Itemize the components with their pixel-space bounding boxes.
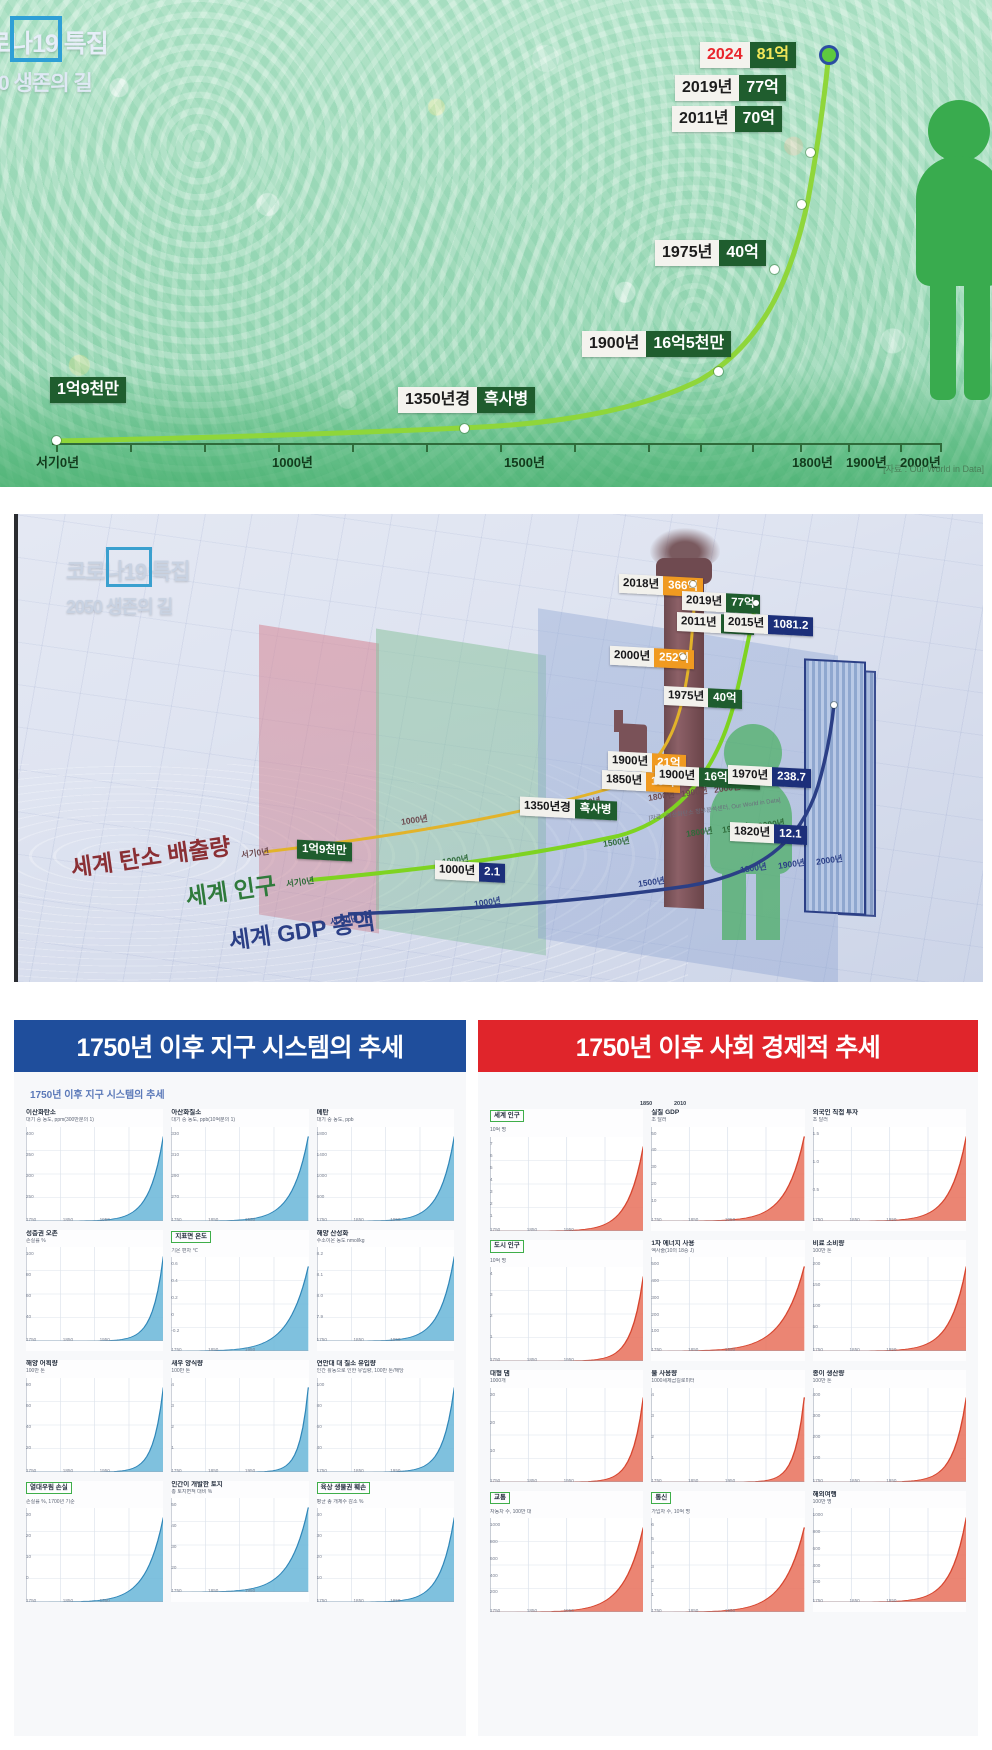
panel4-header-year: 1850 [640,1101,652,1107]
mini-chart-subtitle: 100만 톤 [26,1368,163,1375]
mini-chart-title: 해양 어획량 [26,1360,163,1368]
label-1975: 1975년 40억 [655,240,766,266]
mini-chart-plot: 20015010050175018501950 [813,1257,966,1351]
panel4-title: 1750년 이후 사회 경제적 추세 [478,1020,978,1072]
mini-x-tick: 1950 [564,1608,574,1613]
mini-chart[interactable]: 새우 양식량100만 톤4321175018501950 [171,1360,308,1472]
data-point-1975 [770,265,779,274]
mini-x-tick: 1950 [245,1468,255,1473]
mini-chart-subtitle: 수소이온 농도 nmol/kg [317,1238,454,1245]
mini-y-tick: 1400 [317,1152,327,1157]
mini-x-tick: 1850 [63,1217,73,1222]
mini-y-tick: 400 [813,1392,821,1397]
mini-chart[interactable]: 종이 생산량100만 톤400300200100175018501950 [813,1370,966,1482]
mini-x-tick: 1850 [353,1468,363,1473]
mini-chart[interactable]: 도시 인구10억 명4321175018501950 [490,1240,643,1362]
mini-chart-plot: 80604020175018501950 [26,1378,163,1472]
mini-x-tick: 1950 [390,1337,400,1342]
mini-x-tick: 1850 [527,1357,537,1362]
mini-x-tick: 1950 [245,1347,255,1352]
mini-chart-plot: 1000800600400200175018501950 [490,1518,643,1612]
mini-y-tick: 200 [813,1261,821,1266]
pop-label-2019: 2019년 77억 [682,591,760,614]
mini-y-tick: 1.5 [813,1131,819,1136]
mini-y-tick: -0.2 [171,1328,179,1333]
mini-chart-subtitle: 엑사줄(10의 18승 J) [651,1248,804,1255]
mini-y-tick: 600 [317,1194,325,1199]
mini-chart-subtitle: 손실률 % [26,1238,163,1245]
mini-y-tick: 3 [490,1292,493,1297]
mini-y-tick: 0.5 [813,1187,819,1192]
mini-chart-subtitle: 자동차 수, 100만 대 [490,1509,643,1516]
mini-chart-subtitle: 10억 명 [490,1258,643,1265]
mini-y-tick: 270 [171,1194,179,1199]
mini-chart-title: 육상 생물권 훼손 [317,1482,370,1494]
mini-chart-subtitle: 대기 중 농도, ppm(300만분의 1) [26,1117,163,1124]
mini-y-tick: 8.1 [317,1272,323,1277]
mini-y-tick: 40 [26,1424,31,1429]
mini-chart-plot: 1000800600400200175018501950 [813,1508,966,1602]
mini-y-tick: 330 [171,1131,179,1136]
mini-x-tick: 1950 [886,1598,896,1603]
mini-x-tick: 1750 [317,1598,327,1603]
mini-x-tick: 1750 [651,1217,661,1222]
mini-x-tick: 1950 [564,1478,574,1483]
mini-y-tick: 1 [651,1455,654,1460]
mini-y-tick: 400 [490,1573,498,1578]
mini-x-tick: 1950 [100,1217,110,1222]
mini-x-tick: 1850 [208,1468,218,1473]
mini-y-tick: 7 [490,1141,493,1146]
mini-x-tick: 1850 [208,1347,218,1352]
mini-x-tick: 1750 [317,1468,327,1473]
mini-x-tick: 1750 [171,1468,181,1473]
mini-x-tick: 1850 [63,1337,73,1342]
mini-x-tick: 1850 [353,1217,363,1222]
mini-x-tick: 1750 [651,1478,661,1483]
mini-chart-title: 비료 소비량 [813,1240,966,1248]
mini-x-tick: 1950 [100,1468,110,1473]
mini-x-tick: 1750 [651,1608,661,1613]
mini-chart-plot: 40302010175018501950 [317,1508,454,1602]
mini-x-tick: 1750 [490,1478,500,1483]
mini-chart-title: 대형 댐 [490,1370,643,1378]
mini-chart-title: 지표면 온도 [171,1231,211,1243]
mini-chart-title: 물 사용량 [651,1370,804,1378]
label-1350-black-death: 1350년경 흑사병 [398,387,535,413]
mini-y-tick: 3 [171,1403,174,1408]
mini-y-tick: 40 [317,1445,322,1450]
mini-y-tick: 10 [26,1554,31,1559]
xtick-1800: 1800년 [792,452,833,471]
mini-chart[interactable]: 인간이 개발한 토지총 토지면적 대비 %5040302017501850195… [171,1481,308,1603]
mini-chart[interactable]: 대형 댐1000개302010175018501950 [490,1370,643,1482]
mini-y-tick: 4 [651,1550,654,1555]
mini-chart-plot: 4321175018501950 [171,1378,308,1472]
mini-x-tick: 1950 [564,1357,574,1362]
mini-y-tick: 40 [651,1147,656,1152]
mini-y-tick: 20 [26,1533,31,1538]
mini-x-tick: 1950 [725,1347,735,1352]
mini-chart-plot: 400350300250175018501950 [26,1127,163,1221]
mini-y-tick: 20 [317,1554,322,1559]
mini-chart[interactable]: 교통자동차 수, 100만 대1000800600400200175018501… [490,1491,643,1613]
mini-y-tick: 300 [813,1413,821,1418]
mini-x-tick: 1750 [813,1478,823,1483]
mini-chart[interactable]: 육상 생물권 훼손평균 종 개체수 감소 %403020101750185019… [317,1481,454,1603]
mini-y-tick: 3 [651,1413,654,1418]
mini-chart[interactable]: 1차 에너지 사용엑사줄(10의 18승 J)50040030020010017… [651,1240,804,1362]
mini-chart[interactable]: 물 사용량1000세제곱킬로미터4321175018501950 [651,1370,804,1482]
three-series-composite-panel: 코로나19 특집 2050 생존의 길 2018년 366억 2000년 252… [14,514,983,982]
label-1900: 1900년 16억5천만 [582,331,731,357]
mini-chart-subtitle: 조 달러 [813,1117,966,1124]
mini-y-tick: 0.6 [171,1261,177,1266]
panel3-title: 1750년 이후 지구 시스템의 추세 [14,1020,466,1072]
population-curve-svg [0,0,992,487]
mini-y-tick: 200 [813,1579,821,1584]
mini-y-tick: 10 [651,1198,656,1203]
mini-y-tick: 1000 [490,1522,500,1527]
mini-x-tick: 1950 [100,1598,110,1603]
mini-y-tick: 100 [26,1251,34,1256]
mini-y-tick: 4 [171,1382,174,1387]
label-2024: 2024 81억 [700,42,796,68]
mini-y-tick: 800 [813,1529,821,1534]
mini-x-tick: 1850 [527,1608,537,1613]
mini-y-tick: 60 [317,1424,322,1429]
data-point-2011 [797,200,806,209]
mini-y-tick: 7.9 [317,1314,323,1319]
mini-chart-title: 인간이 개발한 토지 [171,1481,308,1489]
mini-y-tick: 6 [490,1153,493,1158]
mini-x-tick: 1850 [688,1217,698,1222]
mini-chart[interactable]: 해양 어획량100만 톤80604020175018501950 [26,1360,163,1472]
mini-y-tick: 200 [813,1434,821,1439]
mini-y-tick: 0.4 [171,1278,177,1283]
mini-y-tick: 2 [490,1201,493,1206]
xtick-1900: 1900년 [846,452,887,471]
mini-y-tick: 500 [651,1261,659,1266]
mini-chart-plot: 302010175018501950 [490,1388,643,1482]
panel3-sheet-heading: 1750년 이후 지구 시스템의 추세 [30,1086,454,1101]
mini-chart-plot: 100806040175018501950 [317,1378,454,1472]
mini-x-tick: 1750 [490,1227,500,1232]
mini-x-tick: 1750 [26,1217,36,1222]
mini-x-tick: 1850 [527,1478,537,1483]
mini-chart-title: 성층권 오존 [26,1230,163,1238]
mini-chart-subtitle: 손실률 %, 1700년 기준 [26,1499,163,1506]
mini-y-tick: 290 [171,1173,179,1178]
mini-y-tick: 5 [651,1536,654,1541]
mini-y-tick: 8.0 [317,1293,323,1298]
mini-chart-plot: 4321175018501950 [651,1388,804,1482]
mini-y-tick: 600 [490,1556,498,1561]
mini-chart-subtitle: 인간 활동으로 인한 유입량, 100만 톤/해당 [317,1368,454,1375]
broadcast-watermark: 코로나19 특집 2050 생존의 길 [0,24,108,97]
carbon-point-2000 [680,654,686,660]
mini-chart-title: 1차 에너지 사용 [651,1240,804,1248]
mini-chart-title: 외국인 직접 투자 [813,1109,966,1117]
mini-chart-title: 해외여행 [813,1491,966,1499]
mini-chart[interactable]: 외국인 직접 투자조 달러1.51.00.5175018501950 [813,1109,966,1231]
mini-y-tick: 150 [813,1282,821,1287]
mini-chart-title: 새우 양식량 [171,1360,308,1368]
mini-y-tick: 2 [651,1434,654,1439]
mini-x-tick: 1850 [63,1598,73,1603]
mini-x-tick: 1750 [26,1337,36,1342]
mini-y-tick: 20 [651,1181,656,1186]
mini-y-tick: 200 [651,1312,659,1317]
mini-chart[interactable]: 연안대 대 질소 유입량인간 활동으로 인한 유입량, 100만 톤/해당100… [317,1360,454,1472]
data-point-year0 [52,436,61,445]
mini-y-tick: 300 [651,1295,659,1300]
mini-y-tick: 400 [26,1131,34,1136]
mini-y-tick: 1800 [317,1131,327,1136]
mini-chart-plot: 100806040175018501950 [26,1247,163,1341]
mini-x-tick: 1950 [725,1217,735,1222]
mini-x-tick: 1950 [725,1608,735,1613]
panel4-sheet: 1750년 이후 사회 경제적 추세 세계 인구10억 명76543211750… [478,1072,978,1736]
mini-y-tick: 60 [26,1403,31,1408]
mini-chart-title: 도시 인구 [490,1240,524,1252]
mini-x-tick: 1750 [813,1598,823,1603]
mini-chart-subtitle: 가입자 수, 10억 명 [651,1509,804,1516]
mini-y-tick: 50 [651,1131,656,1136]
mini-x-tick: 1950 [564,1227,574,1232]
mini-chart-subtitle: 1000개 [490,1378,643,1385]
mini-chart-subtitle: 총 토지면적 대비 % [171,1489,308,1496]
mini-x-tick: 1850 [849,1347,859,1352]
mini-x-tick: 1850 [688,1347,698,1352]
mini-y-tick: 5 [490,1165,493,1170]
mini-y-tick: 2 [171,1424,174,1429]
panel4-header-year: 2010 [674,1101,686,1107]
mini-chart[interactable]: 아산화질소대기 중 농도, ppb(10억분의 1)33031029027017… [171,1109,308,1221]
panel1-x-axis [52,443,942,445]
mini-x-tick: 1950 [886,1217,896,1222]
mini-chart[interactable]: 지표면 온도기온 편차 ℃0.60.40.20-0.2175018501950 [171,1230,308,1352]
mini-chart-subtitle: 10억 명 [490,1127,643,1134]
mini-y-tick: 4 [490,1177,493,1182]
mini-chart-title: 교통 [490,1492,510,1504]
mini-chart[interactable]: 해외여행100만 명1000800600400200175018501950 [813,1491,966,1613]
mini-y-tick: 1000 [813,1512,823,1517]
watermark2-line2: 2050 생존의 길 [66,593,190,619]
mini-y-tick: 2 [490,1313,493,1318]
mini-y-tick: 100 [317,1382,325,1387]
mini-y-tick: 400 [651,1278,659,1283]
panel4-mini-chart-grid: 세계 인구10억 명7654321175018501950실질 GDP조 달러5… [490,1109,966,1612]
watermark-accent-box [10,16,62,62]
xtick-0: 서기0년 [36,452,79,471]
mini-y-tick: 100 [651,1328,659,1333]
data-point-2019 [806,148,815,157]
mini-chart-plot: 654321175018501950 [651,1518,804,1612]
mini-y-tick: 0 [171,1312,174,1317]
mini-chart-title: 열대우림 손실 [26,1482,72,1494]
mini-y-tick: 0.2 [171,1295,177,1300]
mini-y-tick: 50 [813,1324,818,1329]
mini-x-tick: 1750 [171,1588,181,1593]
mini-x-tick: 1750 [317,1217,327,1222]
mini-x-tick: 1750 [171,1217,181,1222]
mini-y-tick: 8.2 [317,1251,323,1256]
mini-y-tick: 40 [26,1314,31,1319]
mini-chart-subtitle: 100만 톤 [813,1378,966,1385]
panel3-sheet: 1750년 이후 지구 시스템의 추세 이산화탄소대기 중 농도, ppm(30… [14,1072,466,1736]
pop-label-year0: 1억9천만 [297,840,352,862]
mini-x-tick: 1850 [63,1468,73,1473]
mini-x-tick: 1850 [353,1337,363,1342]
population-curve-panel: 코로나19 특집 2050 생존의 길 2024 81억 2019년 77억 2… [0,0,992,487]
mini-chart-title: 이산화탄소 [26,1109,163,1117]
mini-chart-plot: 4321175018501950 [490,1267,643,1361]
mini-x-tick: 1750 [490,1357,500,1362]
label-2019: 2019년 77억 [675,75,786,101]
mini-y-tick: 1 [490,1334,493,1339]
mini-chart-plot: 500400300200100175018501950 [651,1257,804,1351]
mini-chart[interactable]: 비료 소비량100만 톤20015010050175018501950 [813,1240,966,1362]
watermark-line2: 2050 생존의 길 [0,67,108,97]
mini-y-tick: 250 [26,1194,34,1199]
mini-x-tick: 1950 [100,1337,110,1342]
mini-chart-plot: 330310290270175018501950 [171,1127,308,1221]
mini-y-tick: 300 [26,1173,34,1178]
pop-label-1975: 1975년 40억 [664,686,742,709]
mini-y-tick: 40 [171,1523,176,1528]
mini-y-tick: 40 [317,1512,322,1517]
mini-chart-plot: 50403020175018501950 [171,1498,308,1592]
earth-system-trends-panel: 1750년 이후 지구 시스템의 추세 1750년 이후 지구 시스템의 추세 … [14,1020,466,1736]
mini-x-tick: 1950 [390,1598,400,1603]
mini-x-tick: 1750 [26,1468,36,1473]
mini-chart-subtitle: 100만 명 [813,1499,966,1506]
mini-chart[interactable]: 이산화탄소대기 중 농도, ppm(300만분의 1)4003503002501… [26,1109,163,1221]
mini-x-tick: 1750 [171,1347,181,1352]
mini-chart-subtitle: 대기 중 농도, ppb(10억분의 1) [171,1117,308,1124]
xtick-1500: 1500년 [504,452,545,471]
mini-y-tick: 100 [813,1455,821,1460]
mini-chart[interactable]: 성층권 오존손실률 %100806040175018501950 [26,1230,163,1352]
mini-x-tick: 1850 [849,1217,859,1222]
mini-chart-plot: 1.51.00.5175018501950 [813,1127,966,1221]
mini-chart-title: 해양 산성화 [317,1230,454,1238]
mini-y-tick: 3 [490,1189,493,1194]
mini-chart[interactable]: 세계 인구10억 명7654321175018501950 [490,1109,643,1231]
mini-chart-title: 메탄 [317,1109,454,1117]
mini-y-tick: 350 [26,1152,34,1157]
mini-x-tick: 1950 [390,1217,400,1222]
mini-y-tick: 6 [651,1522,654,1527]
mini-chart[interactable]: 메탄대기 중 농도, ppb18001400100060017501850195… [317,1109,454,1221]
mini-x-tick: 1950 [245,1588,255,1593]
mini-y-tick: 50 [171,1502,176,1507]
mini-x-tick: 1750 [813,1217,823,1222]
mini-chart-subtitle: 평균 종 개체수 감소 % [317,1499,454,1506]
mini-chart[interactable]: 통신가입자 수, 10억 명654321175018501950 [651,1491,804,1613]
mini-chart-title: 실질 GDP [651,1109,804,1117]
mini-chart-title: 통신 [651,1492,671,1504]
watermark2-accent-box [106,547,152,587]
mini-x-tick: 1850 [527,1227,537,1232]
mini-chart-plot: 8.28.18.07.9175018501950 [317,1247,454,1341]
mini-y-tick: 20 [171,1565,176,1570]
mini-y-tick: 310 [171,1152,179,1157]
mini-y-tick: 1 [651,1592,654,1597]
mini-y-tick: 10 [490,1448,495,1453]
mini-y-tick: 600 [813,1546,821,1551]
mini-chart-subtitle: 1000세제곱킬로미터 [651,1378,804,1385]
mini-x-tick: 1950 [886,1478,896,1483]
mini-y-tick: 80 [26,1382,31,1387]
mini-chart-title: 세계 인구 [490,1110,524,1122]
mini-chart-title: 연안대 대 질소 유입량 [317,1360,454,1368]
mini-y-tick: 4 [651,1392,654,1397]
mini-y-tick: 400 [813,1563,821,1568]
mini-y-tick: 3 [651,1564,654,1569]
mini-x-tick: 1850 [849,1598,859,1603]
gdp-label-1820: 1820년 12.1 [730,822,807,845]
mini-x-tick: 1950 [390,1468,400,1473]
mini-chart-plot: 0.60.40.20-0.2175018501950 [171,1257,308,1351]
mini-x-tick: 1850 [353,1598,363,1603]
mini-chart-plot: 3020100175018501950 [26,1508,163,1602]
panel1-source-credit: [자료 : Our World in Data] [883,462,984,475]
label-year0-population: 1억9천만 [50,377,126,403]
mini-chart[interactable]: 해양 산성화수소이온 농도 nmol/kg8.28.18.07.91750185… [317,1230,454,1352]
mini-chart-plot: 180014001000600175018501950 [317,1127,454,1221]
gdp-label-1000: 1000년 2.1 [435,860,505,883]
data-point-1900 [714,367,723,376]
mini-y-tick: 30 [171,1544,176,1549]
mini-y-tick: 20 [26,1445,31,1450]
mini-chart-title: 종이 생산량 [813,1370,966,1378]
panel3-mini-chart-grid: 이산화탄소대기 중 농도, ppm(300만분의 1)4003503002501… [26,1109,454,1602]
broadcast-watermark-2: 코로나19 특집 2050 생존의 길 [66,554,190,619]
mini-chart[interactable]: 실질 GDP조 달러5040302010175018501950 [651,1109,804,1231]
mini-y-tick: 4 [490,1271,493,1276]
mini-y-tick: 30 [317,1533,322,1538]
mini-x-tick: 1850 [688,1608,698,1613]
mini-y-tick: 1000 [317,1173,327,1178]
mini-y-tick: 1.0 [813,1159,819,1164]
mini-x-tick: 1950 [725,1478,735,1483]
mini-chart-plot: 7654321175018501950 [490,1137,643,1231]
mini-x-tick: 1850 [208,1217,218,1222]
mini-y-tick: 800 [490,1539,498,1544]
mini-x-tick: 1750 [317,1337,327,1342]
label-2011: 2011년 70억 [672,106,782,132]
mini-chart-subtitle: 대기 중 농도, ppb [317,1117,454,1124]
mini-x-tick: 1850 [849,1478,859,1483]
mini-chart-subtitle: 100만 톤 [171,1368,308,1375]
mini-chart[interactable]: 열대우림 손실손실률 %, 1700년 기준302010017501850195… [26,1481,163,1603]
mini-y-tick: 100 [813,1303,821,1308]
mini-y-tick: 0 [26,1575,29,1580]
mini-y-tick: 80 [26,1272,31,1277]
mini-x-tick: 1750 [651,1347,661,1352]
pop-point-2019 [753,600,759,606]
mini-y-tick: 1 [171,1445,174,1450]
socio-economic-trends-panel: 1750년 이후 사회 경제적 추세 1750년 이후 사회 경제적 추세 세계… [478,1020,978,1736]
mini-y-tick: 30 [490,1392,495,1397]
data-point-2024 [822,48,836,62]
mini-x-tick: 1950 [886,1347,896,1352]
mini-chart-plot: 400300200100175018501950 [813,1388,966,1482]
data-point-1350 [460,424,469,433]
mini-x-tick: 1850 [208,1588,218,1593]
